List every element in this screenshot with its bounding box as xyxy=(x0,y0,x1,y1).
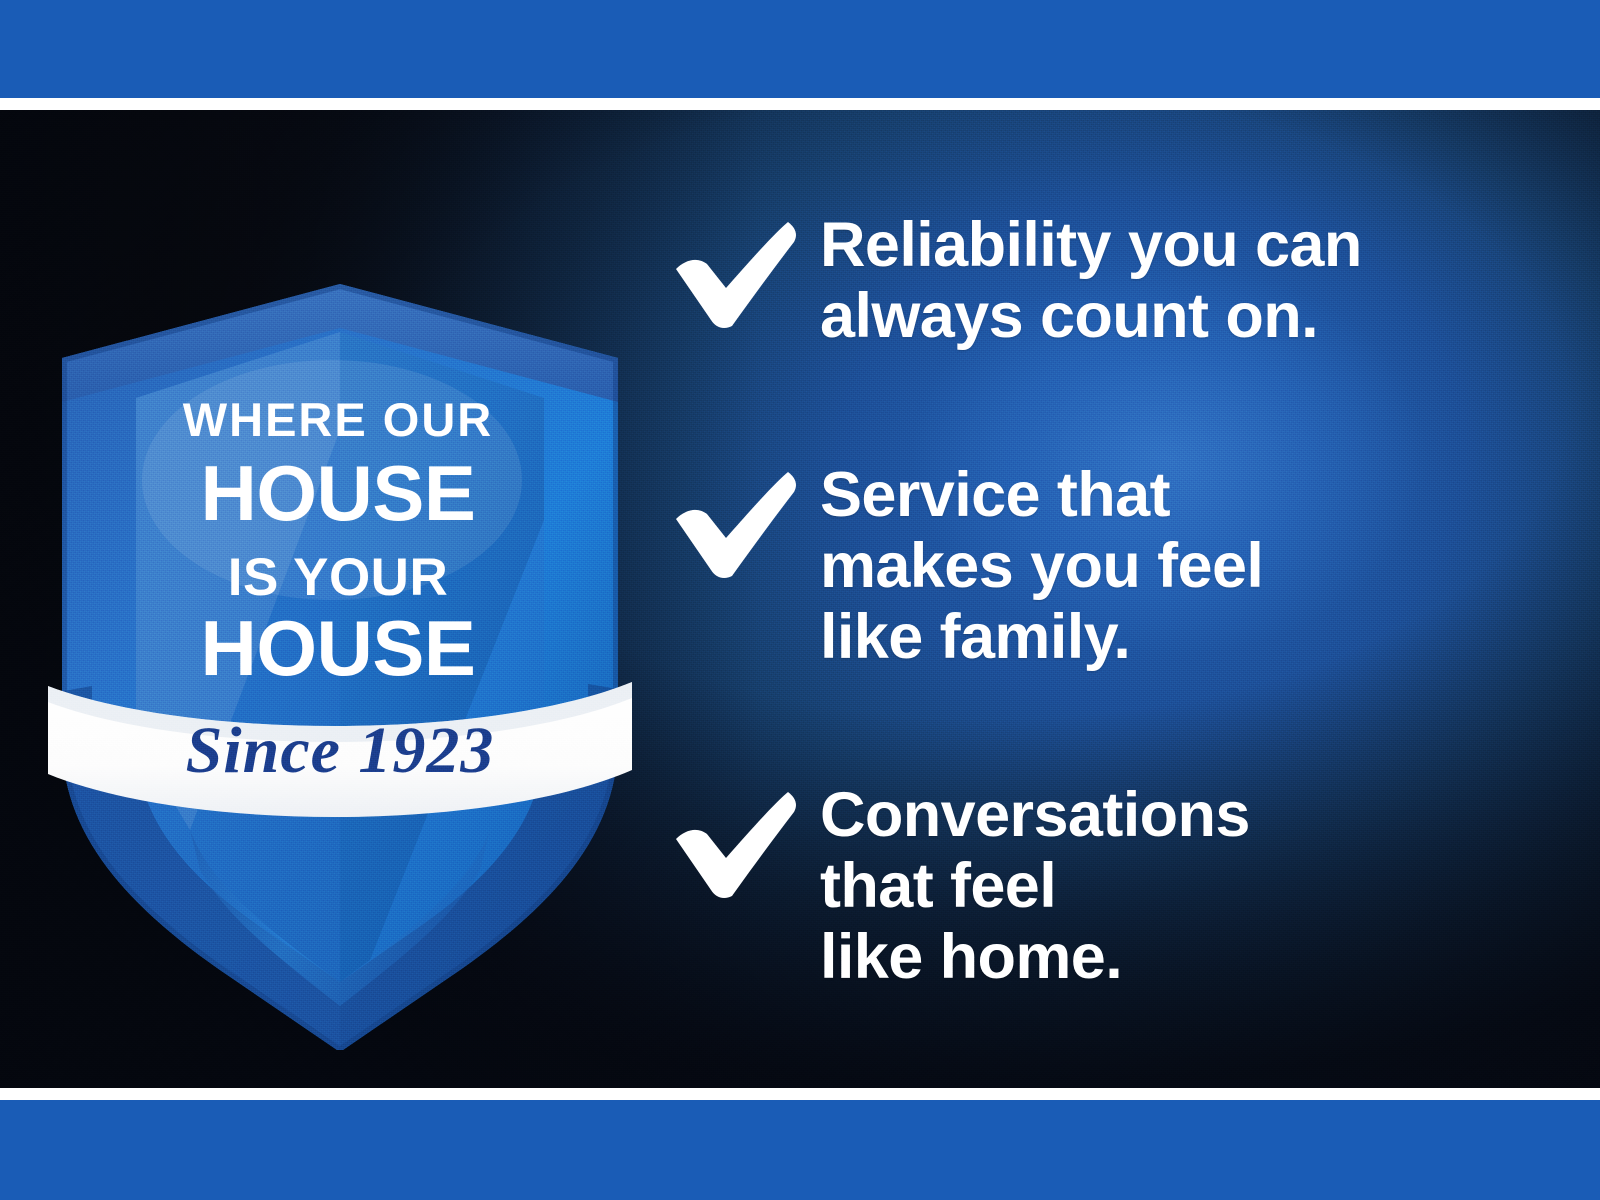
check-icon xyxy=(670,780,820,904)
badge-tagline-line-3: IS YOUR xyxy=(228,548,448,607)
check-icon xyxy=(670,210,820,334)
bottom-brand-bar xyxy=(0,1100,1600,1200)
benefit-item: Service that makes you feel like family. xyxy=(670,460,1500,780)
main-stage: WHERE OUR HOUSE IS YOUR HOUSE Since 1923 xyxy=(0,110,1600,1088)
badge-tagline-line-4: HOUSE xyxy=(201,604,476,692)
benefit-item: Reliability you can always count on. xyxy=(670,210,1500,460)
top-brand-bar xyxy=(0,0,1600,98)
promo-graphic: WHERE OUR HOUSE IS YOUR HOUSE Since 1923 xyxy=(0,0,1600,1200)
badge-tagline-line-1: WHERE OUR xyxy=(183,393,493,446)
benefit-text: Service that makes you feel like family. xyxy=(820,460,1500,674)
check-icon xyxy=(670,460,820,584)
benefits-list: Reliability you can always count on. Ser… xyxy=(670,210,1500,1080)
shield-badge: WHERE OUR HOUSE IS YOUR HOUSE Since 1923 xyxy=(40,270,640,1050)
badge-tagline-line-2: HOUSE xyxy=(201,449,476,537)
benefit-text: Conversations that feel like home. xyxy=(820,780,1500,994)
bottom-white-divider xyxy=(0,1088,1600,1100)
top-white-divider xyxy=(0,98,1600,110)
benefit-text: Reliability you can always count on. xyxy=(820,210,1500,352)
ribbon-since-text: Since 1923 xyxy=(186,714,495,787)
benefit-item: Conversations that feel like home. xyxy=(670,780,1500,1080)
